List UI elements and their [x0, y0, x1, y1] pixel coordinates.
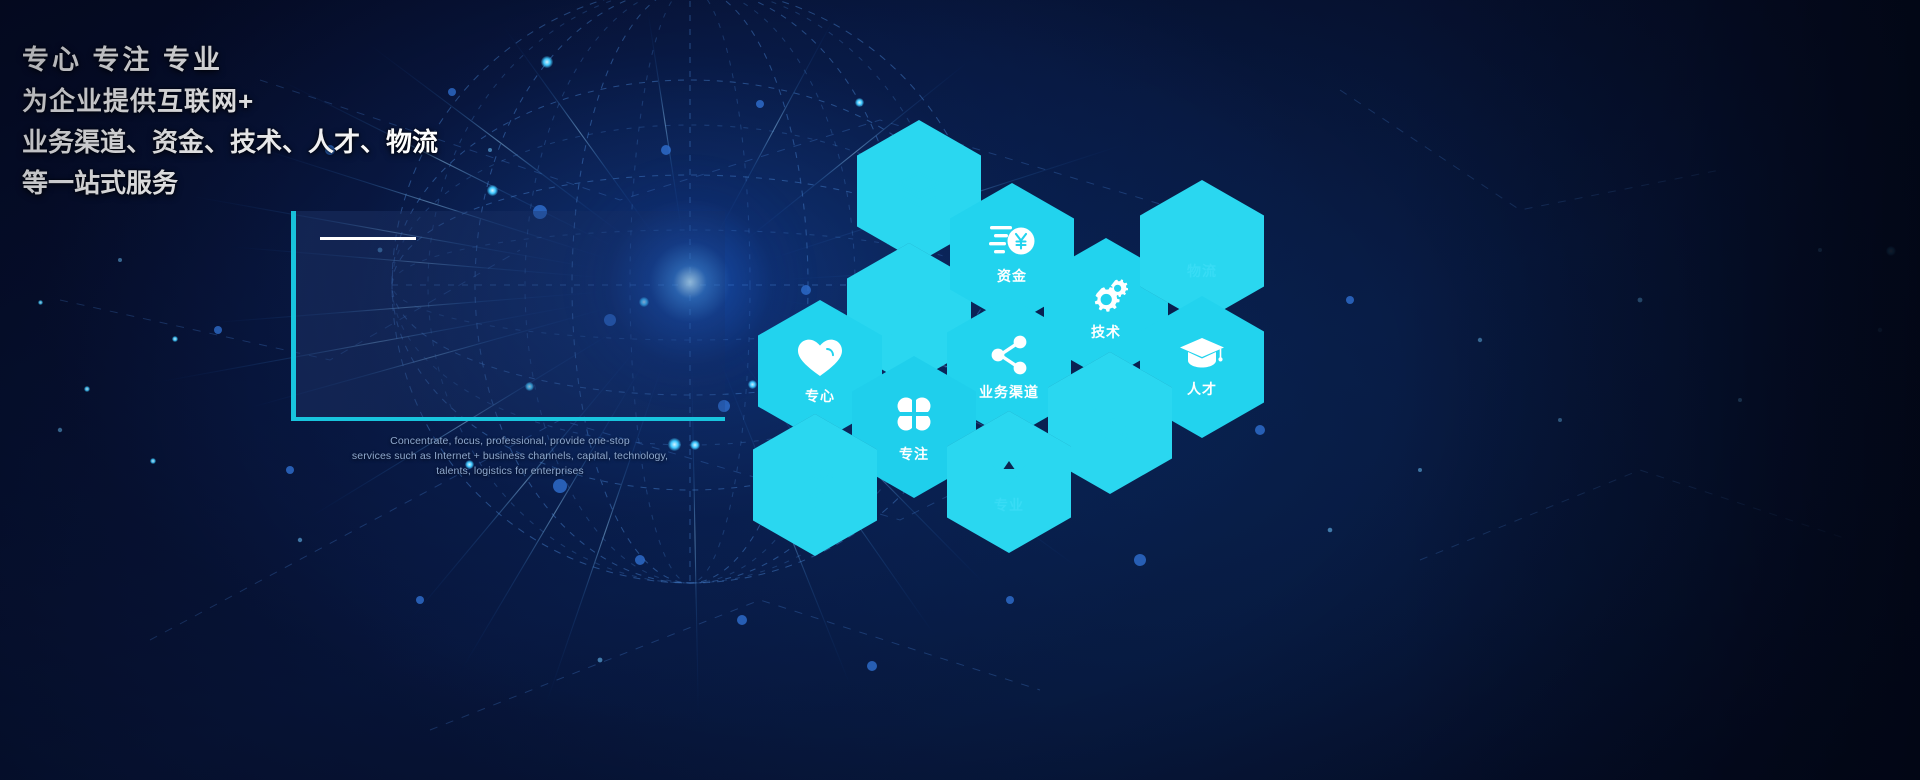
share-nodes-icon: [987, 335, 1031, 375]
diamond-icon: [989, 450, 1029, 488]
hex-caption: 专心: [805, 386, 835, 406]
hex-caption: 资金: [997, 266, 1027, 286]
hex-caption: 人才: [1187, 379, 1217, 399]
gears-icon: [1084, 277, 1128, 315]
clover-icon: [891, 391, 937, 437]
cart-e-icon: e: [1085, 402, 1135, 444]
svg-text:e: e: [1110, 413, 1117, 429]
graduation-cap-icon: [1179, 336, 1225, 372]
hex-caption: 技术: [1091, 322, 1121, 342]
hex-caption: 物流: [1187, 261, 1217, 281]
banner-stage: 专心 专注 专业 为企业提供互联网+ 业务渠道、资金、技术、人才、物流 等一站式…: [0, 0, 1920, 780]
layers-icon: [896, 170, 942, 212]
vignette-overlay: [0, 0, 1920, 780]
hex-caption: 专业: [994, 495, 1024, 515]
truck-icon: [1179, 222, 1225, 254]
atom-icon: [791, 462, 839, 508]
hex-caption: 业务渠道: [979, 382, 1039, 402]
heart-icon: [796, 337, 844, 379]
yen-money-icon: [988, 223, 1036, 259]
hex-caption: 专注: [899, 444, 929, 464]
bar-chart-up-icon: [888, 292, 930, 336]
